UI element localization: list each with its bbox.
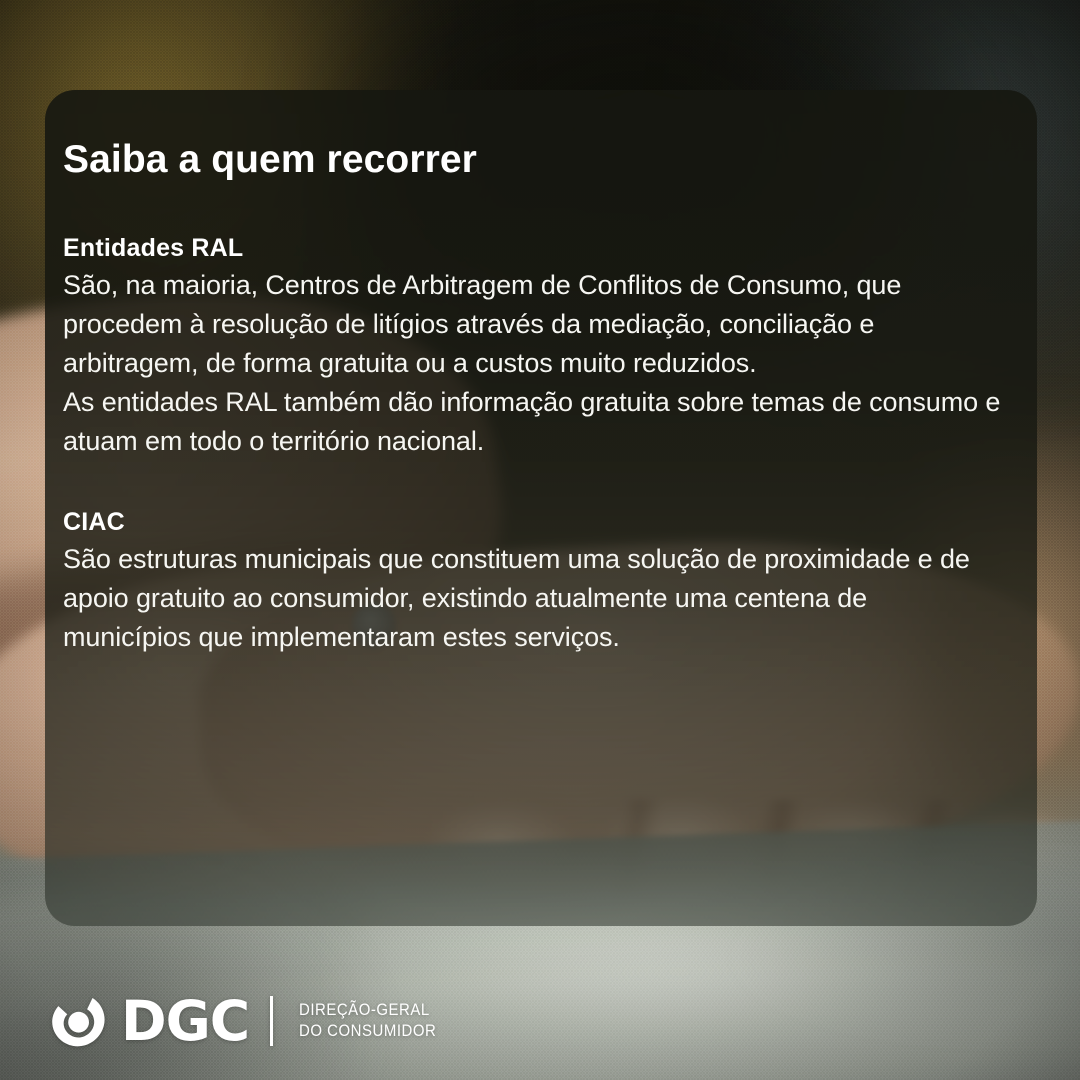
logo-subtitle-line-2: DO CONSUMIDOR xyxy=(299,1021,436,1040)
social-card: Saiba a quem recorrer Entidades RAL São,… xyxy=(0,0,1080,1080)
logo-divider xyxy=(270,996,273,1046)
section-heading: Entidades RAL xyxy=(63,234,1001,263)
logo-subtitle-line-1: DIREÇÃO-GERAL xyxy=(299,1000,430,1019)
section-ciac: CIAC São estruturas municipais que const… xyxy=(63,508,1001,657)
dgc-logo: DGC DIREÇÃO-GERAL DO CONSUMIDOR xyxy=(52,992,455,1050)
logo-wordmark: DGC xyxy=(121,994,249,1049)
panel-content: Saiba a quem recorrer Entidades RAL São,… xyxy=(63,138,1001,657)
section-body: São, na maioria, Centros de Arbitragem d… xyxy=(63,266,1001,460)
section-body: São estruturas municipais que constituem… xyxy=(63,540,1001,657)
logo-subtitle: DIREÇÃO-GERAL DO CONSUMIDOR xyxy=(299,1000,436,1041)
section-entidades-ral: Entidades RAL São, na maioria, Centros d… xyxy=(63,234,1001,460)
section-heading: CIAC xyxy=(63,508,1001,537)
page-title: Saiba a quem recorrer xyxy=(63,138,1001,182)
dgc-crescent-dot-icon xyxy=(52,992,106,1050)
text-overlay-panel: Saiba a quem recorrer Entidades RAL São,… xyxy=(45,90,1037,926)
